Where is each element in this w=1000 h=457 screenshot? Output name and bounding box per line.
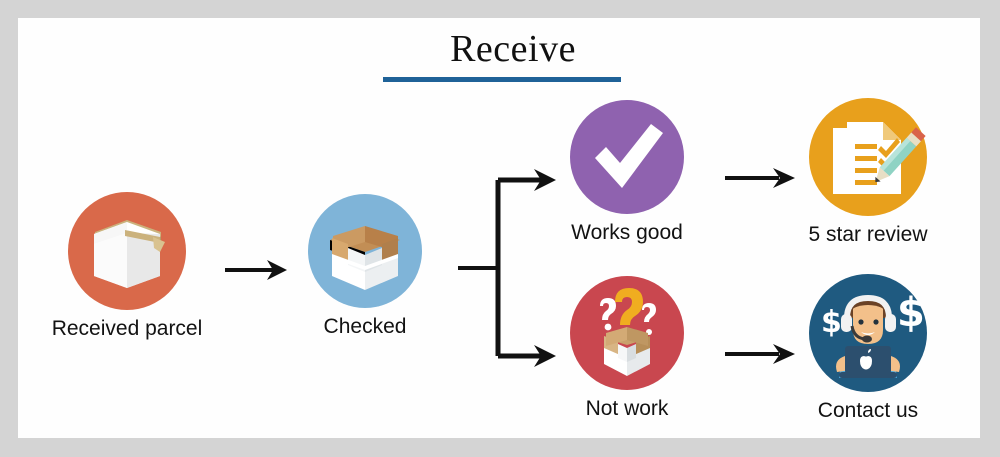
flow-node-received-parcel: Received parcel <box>37 192 217 342</box>
diagram-canvas: Receive <box>18 18 980 438</box>
flow-node-five-star-review: 5 star review <box>778 98 958 248</box>
page-title-text: Receive <box>383 26 643 72</box>
works-good-label: Works good <box>537 220 717 246</box>
checklist-pencil-icon <box>809 98 927 216</box>
contact-us-label: Contact us <box>778 398 958 424</box>
five-star-review-label: 5 star review <box>778 222 958 248</box>
works-good-circle <box>570 100 684 214</box>
not-work-label: Not work <box>537 396 717 422</box>
page-title: Receive <box>383 26 643 82</box>
svg-text:$: $ <box>821 305 842 340</box>
flow-node-works-good: Works good <box>537 100 717 246</box>
title-underline-rule <box>383 77 621 82</box>
svg-text:$: $ <box>897 290 925 336</box>
flow-node-contact-us: $ $ <box>778 274 958 424</box>
received-parcel-circle <box>68 192 186 310</box>
support-agent-icon: $ $ <box>809 274 927 392</box>
flow-node-not-work: Not work <box>537 276 717 422</box>
checkmark-icon <box>570 100 684 214</box>
image-frame: Receive <box>0 0 1000 457</box>
flow-node-checked: Checked <box>275 194 455 340</box>
not-work-circle <box>570 276 684 390</box>
checked-label: Checked <box>275 314 455 340</box>
open-box-icon <box>308 194 422 308</box>
question-box-icon <box>570 276 684 390</box>
contact-us-circle: $ $ <box>809 274 927 392</box>
checked-circle <box>308 194 422 308</box>
five-star-review-circle <box>809 98 927 216</box>
closed-box-icon <box>68 192 186 310</box>
received-parcel-label: Received parcel <box>37 316 217 342</box>
